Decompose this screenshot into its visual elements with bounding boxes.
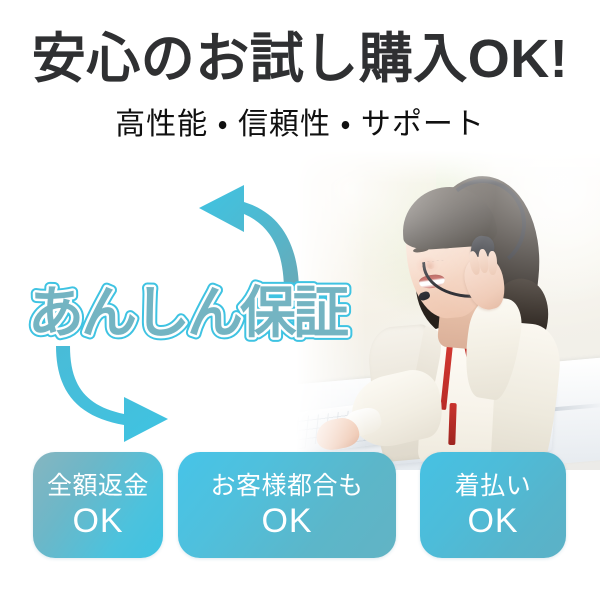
badge-customer-reason-label: お客様都合も: [210, 471, 363, 501]
badge-cash-on-delivery-label: 着払い: [455, 471, 532, 501]
promo-banner: 安心のお試し購入OK! 高性能 ・ 信頼性 ・ サポート あんしん保証 あんしん…: [0, 0, 600, 600]
badge-full-refund[interactable]: 全額返金 OK: [33, 452, 163, 558]
guarantee-badges: 全額返金 OK お客様都合も OK 着払い OK: [0, 452, 600, 558]
finger-3: [487, 251, 497, 275]
badge-cash-on-delivery-ok: OK: [467, 502, 518, 540]
badge-full-refund-ok: OK: [72, 502, 123, 540]
badge-cash-on-delivery[interactable]: 着払い OK: [420, 452, 566, 558]
page-title: 安心のお試し購入OK!: [0, 28, 600, 90]
badge-customer-reason-ok: OK: [261, 502, 312, 540]
badge-customer-reason[interactable]: お客様都合も OK: [178, 452, 396, 558]
arrow-up-left-icon: [199, 185, 299, 292]
page-subtitle: 高性能 ・ 信頼性 ・ サポート: [0, 106, 600, 144]
badge-full-refund-label: 全額返金: [47, 471, 149, 501]
guarantee-wordmark: あんしん保証 あんしん保証 あんしん保証: [28, 278, 358, 348]
arrow-down-right-icon: [56, 346, 168, 442]
guarantee-text-fill: あんしん保証: [28, 281, 348, 346]
